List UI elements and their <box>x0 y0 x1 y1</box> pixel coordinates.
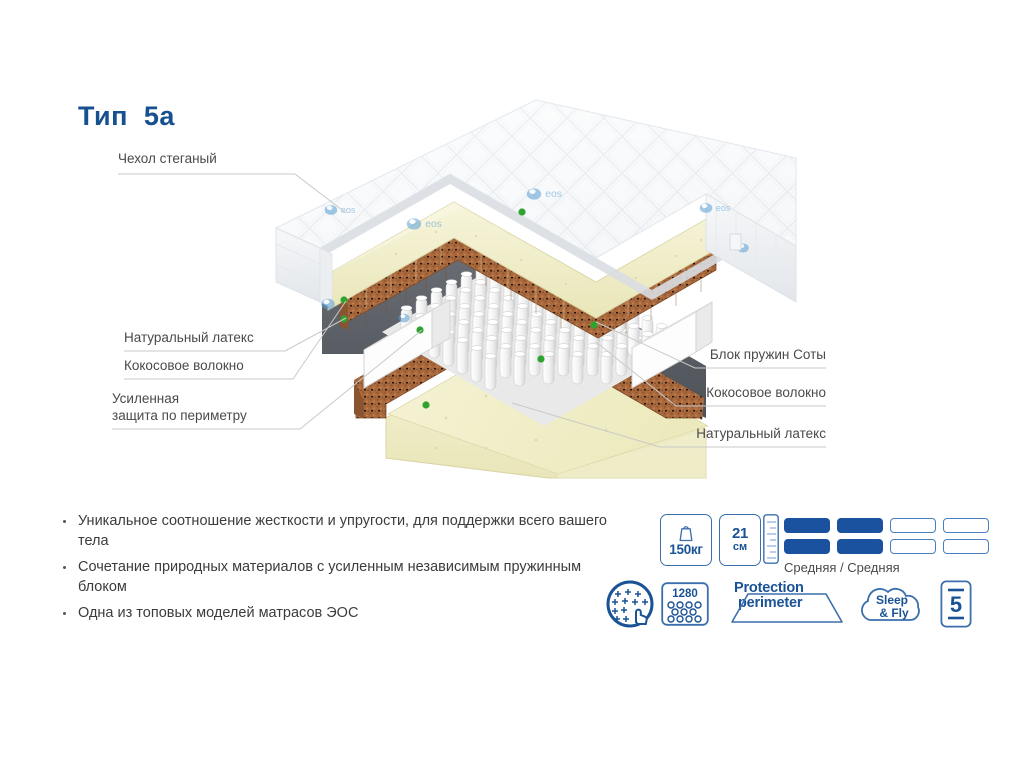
max-weight-badge: 150кг <box>660 514 712 566</box>
warranty-badge: 5 <box>940 580 972 628</box>
feature-list: Уникальное соотношение жесткости и упруг… <box>58 512 618 631</box>
callout-perimeter: Усиленная защита по периметру <box>112 390 302 427</box>
springs-count-badge: 1280 <box>661 582 709 626</box>
height-badge: 21 см <box>719 514 761 566</box>
callout-latex-right-label: Натуральный латекс <box>646 425 826 445</box>
svg-text:eos: eos <box>545 189 562 200</box>
callout-coir-right: Кокосовое волокно <box>646 384 826 404</box>
callout-latex-left-label: Натуральный латекс <box>124 329 286 349</box>
feature-item: Сочетание природных материалов с усиленн… <box>58 558 618 597</box>
protection-perimeter-icon <box>726 580 848 624</box>
callout-latex-right: Натуральный латекс <box>646 425 826 445</box>
firmness-seg-2 <box>837 518 883 533</box>
springs-count-value: 1280 <box>672 588 698 600</box>
callout-cover: Чехол стеганый <box>118 150 278 170</box>
spec-badges: 150кг 21 см <box>604 508 1004 648</box>
callout-spring-block: Блок пружин Соты <box>646 346 826 366</box>
firmness-row-bottom <box>784 539 989 554</box>
protection-perimeter-badge: Protection perimeter <box>726 580 848 624</box>
firmness-row-top <box>784 518 989 533</box>
firmness-seg-8 <box>943 539 989 554</box>
height-value: 21 <box>732 527 748 541</box>
firmness-seg-5 <box>784 539 830 554</box>
sleep-and-fly-word-2: & Fly <box>879 606 909 620</box>
feature-item: Уникальное соотношение жесткости и упруг… <box>58 512 618 551</box>
firmness-seg-1 <box>784 518 830 533</box>
product-slide: Тип 5а <box>0 0 1024 758</box>
max-weight-value: 150кг <box>669 543 702 557</box>
weight-icon <box>676 523 696 543</box>
sleep-and-fly-badge: Sleep & Fly <box>856 580 932 628</box>
firmness-seg-3 <box>890 518 936 533</box>
callout-perimeter-label-2: защита по периметру <box>112 407 302 427</box>
firmness-indicator: Средняя / Средняя <box>784 518 989 575</box>
zones-touch-icon <box>606 580 654 628</box>
sleep-and-fly-word-1: Sleep <box>876 593 908 607</box>
feature-item: Одна из топовых моделей матрасов ЭОС <box>58 604 618 624</box>
firmness-seg-6 <box>837 539 883 554</box>
svg-text:eos: eos <box>716 203 731 213</box>
firmness-seg-4 <box>943 518 989 533</box>
mattress-cutaway-illustration: eos eos eos eos <box>236 118 796 478</box>
svg-text:eos: eos <box>425 219 442 230</box>
callout-latex-left: Натуральный латекс <box>124 329 286 349</box>
page-title: Тип 5а <box>78 101 175 132</box>
callout-cover-label: Чехол стеганый <box>118 150 278 170</box>
svg-text:eos: eos <box>341 205 356 215</box>
firmness-seg-7 <box>890 539 936 554</box>
callout-coir-left-label: Кокосовое волокно <box>124 357 294 377</box>
firmness-label: Средняя / Средняя <box>784 560 989 575</box>
callout-coir-left: Кокосовое волокно <box>124 357 294 377</box>
callout-coir-right-label: Кокосовое волокно <box>646 384 826 404</box>
callout-spring-block-label: Блок пружин Соты <box>646 346 826 366</box>
warranty-years-value: 5 <box>950 592 962 617</box>
callout-perimeter-label-1: Усиленная <box>112 390 302 407</box>
height-ruler-icon <box>763 514 779 564</box>
height-unit: см <box>733 541 747 553</box>
